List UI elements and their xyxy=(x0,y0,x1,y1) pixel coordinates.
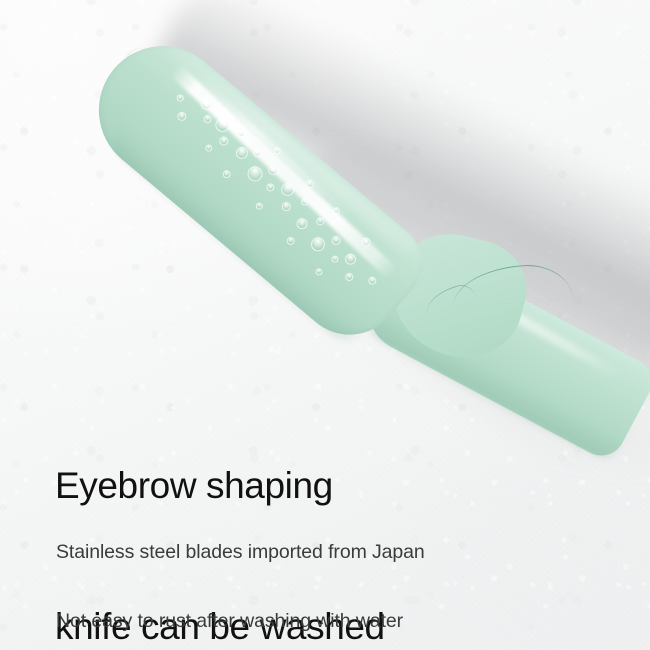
feature-item: Not easy to rust after washing with wate… xyxy=(56,605,468,638)
water-droplet xyxy=(266,163,280,177)
water-droplet xyxy=(285,235,296,246)
water-droplet xyxy=(204,143,214,153)
water-droplet xyxy=(272,146,282,156)
water-droplet xyxy=(299,197,309,207)
water-droplet xyxy=(213,115,233,135)
water-droplet xyxy=(280,200,293,213)
water-droplet xyxy=(360,236,373,249)
water-droplet xyxy=(367,275,378,286)
water-droplet xyxy=(315,216,326,227)
water-droplet xyxy=(265,182,276,193)
water-droplet xyxy=(294,216,309,231)
water-droplet xyxy=(233,144,250,161)
water-droplet xyxy=(176,110,189,123)
water-droplet xyxy=(330,254,340,264)
water-droplet xyxy=(254,201,264,211)
water-droplet xyxy=(344,271,355,282)
water-droplet xyxy=(343,251,358,266)
water-droplet xyxy=(252,147,263,158)
water-droplet xyxy=(278,180,296,198)
water-droplet xyxy=(217,135,230,148)
water-droplet xyxy=(308,234,328,254)
water-droplet xyxy=(221,169,232,180)
water-droplet xyxy=(330,234,343,247)
water-droplet xyxy=(314,267,324,277)
water-droplet xyxy=(331,206,341,216)
water-droplet xyxy=(199,96,214,111)
water-droplet xyxy=(175,93,185,103)
water-droplet xyxy=(304,178,315,189)
feature-list: Stainless steel blades imported from Jap… xyxy=(56,500,468,650)
feature-item: Stainless steel blades imported from Jap… xyxy=(56,536,468,569)
water-droplet xyxy=(237,129,247,139)
water-droplet xyxy=(244,163,265,184)
water-droplet xyxy=(202,113,213,124)
product-marketing-image: Eyebrow shaping knife can be washed Stai… xyxy=(0,0,650,650)
